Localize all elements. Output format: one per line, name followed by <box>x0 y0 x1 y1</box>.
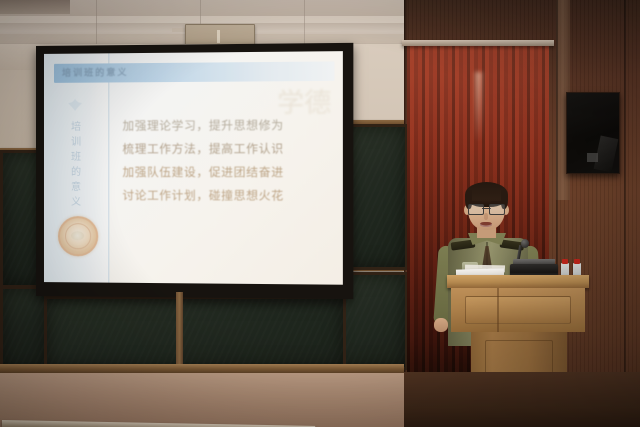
presenter-eyebrow <box>491 201 503 203</box>
projection-screen: 培训班的意义 培训班的意义 学德 加强理论学习，提升思想修为 梳理工作方法，提高… <box>36 46 346 296</box>
chalk-tray <box>0 364 404 373</box>
podium-front-panel <box>451 288 585 332</box>
glasses-lens <box>489 204 505 215</box>
podium-front-inset <box>465 296 571 324</box>
presenter-hand <box>434 318 448 332</box>
screen-surface: 培训班的意义 培训班的意义 学德 加强理论学习，提升思想修为 梳理工作方法，提高… <box>44 51 343 285</box>
eyeglasses-icon <box>468 204 505 213</box>
slide-side-label: 培训班的意义 <box>68 120 84 210</box>
green-chalkboard <box>0 286 50 372</box>
wall-base-panel <box>0 373 404 427</box>
ceiling-shadow-left <box>0 0 70 14</box>
presenter-nose <box>484 213 488 220</box>
screen-support-pole <box>176 292 183 364</box>
glasses-lens <box>468 204 484 215</box>
lecture-hall-photo: 培训班的意义 培训班的意义 学德 加强理论学习，提升思想修为 梳理工作方法，提高… <box>0 0 640 427</box>
podium-top <box>447 275 589 288</box>
presentation-slide: 培训班的意义 培训班的意义 学德 加强理论学习，提升思想修为 梳理工作方法，提高… <box>44 51 343 285</box>
slide-title: 培训班的意义 <box>62 65 129 79</box>
slide-bullet: 加强队伍建设，促进团结奋进 <box>122 162 332 186</box>
slide-divider <box>108 53 109 282</box>
curtain-rod <box>402 40 554 46</box>
presenter-eyebrow <box>470 201 482 203</box>
screen-frame: 培训班的意义 培训班的意义 学德 加强理论学习，提升思想修为 梳理工作方法，提高… <box>36 43 353 299</box>
panel-seam <box>624 0 626 427</box>
microphone-icon <box>521 239 529 248</box>
slide-bullet-list: 加强理论学习，提升思想修为 梳理工作方法，提高工作认识 加强队伍建设，促进团结奋… <box>122 115 332 209</box>
slide-bullet: 梳理工作方法，提高工作认识 <box>122 138 332 162</box>
presenter-mouth <box>480 222 492 227</box>
speaker-glare <box>594 136 619 173</box>
wall-speaker-icon <box>566 92 620 174</box>
lotus-ornament-icon <box>66 98 84 112</box>
green-chalkboard <box>44 296 346 370</box>
projector-lens <box>217 30 220 43</box>
curtain-highlight <box>475 72 482 142</box>
slide-header-band: 培训班的意义 <box>54 61 334 82</box>
slide-bullet: 讨论工作计划，碰撞思想火花 <box>122 185 332 209</box>
podium-panel-seam <box>497 288 499 332</box>
slide-bullet: 加强理论学习，提升思想修为 <box>122 115 332 139</box>
institutional-seal-icon <box>58 216 98 256</box>
floor-right <box>404 372 640 427</box>
